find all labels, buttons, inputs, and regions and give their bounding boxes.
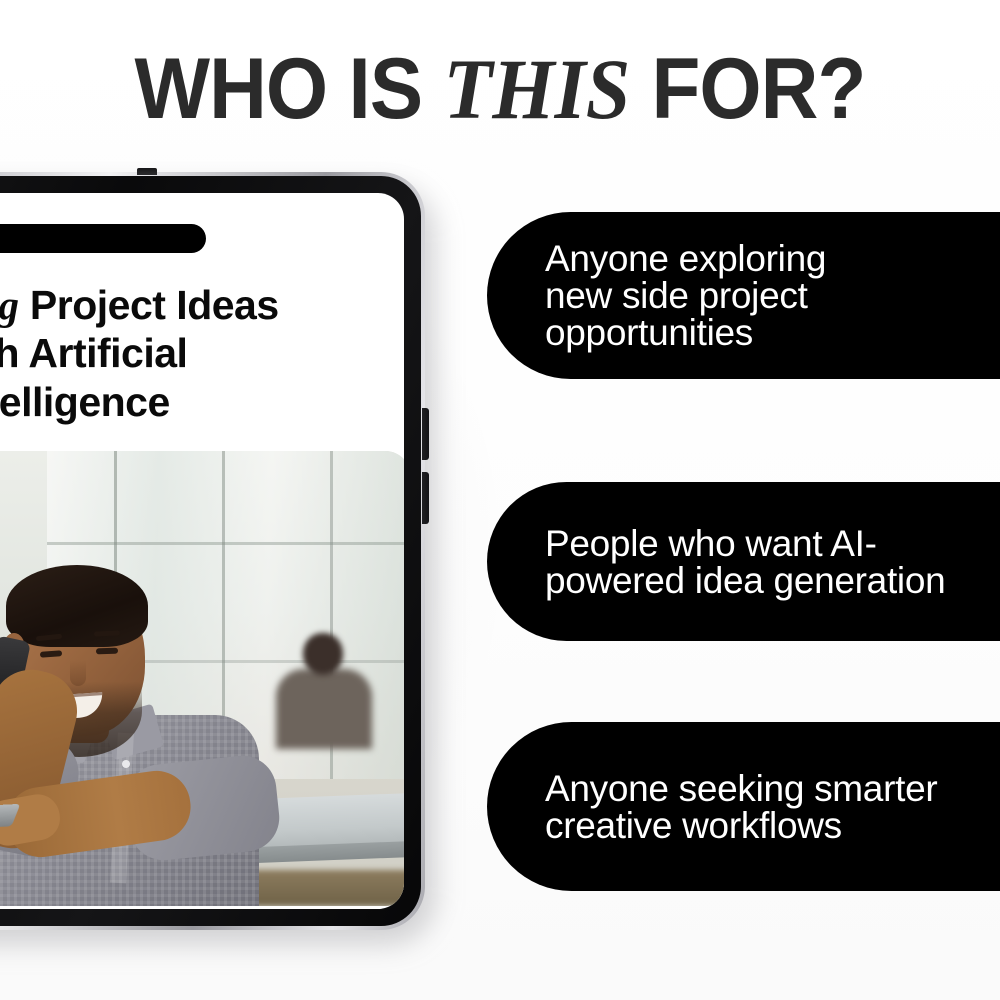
page-title-part2: FOR? [630, 41, 865, 137]
benefit-pill-label: Anyone seeking smarter creative workflow… [487, 770, 955, 844]
page-title-part1: WHO IS [135, 41, 444, 137]
tablet-screen: Unlocking Project Ideas With Artificial … [0, 193, 404, 909]
photo-bg-person-head [303, 633, 343, 675]
screen-headline: Unlocking Project Ideas With Artificial … [0, 281, 404, 426]
tablet-mockup: Unlocking Project Ideas With Artificial … [0, 172, 425, 930]
screen-headline-emphasis: Unlocking [0, 282, 19, 328]
volume-down-button[interactable] [422, 472, 429, 524]
screen-headline-line2: With Artificial [0, 329, 404, 377]
photo-man-eye [96, 648, 118, 655]
benefit-pill-label: People who want AI- powered idea generat… [487, 525, 963, 599]
tablet-bezel: Unlocking Project Ideas With Artificial … [0, 176, 421, 926]
benefit-pill: Anyone seeking smarter creative workflow… [487, 722, 1000, 891]
benefit-pill: Anyone exploring new side project opport… [487, 212, 1000, 379]
photo-man-eyebrow [94, 630, 120, 636]
screen-headline-line3: Intelligence [0, 378, 404, 426]
page-title-emphasis: THIS [444, 41, 631, 137]
volume-up-button[interactable] [422, 408, 429, 460]
screen-top-bar [0, 224, 206, 253]
benefit-pill: People who want AI- powered idea generat… [487, 482, 1000, 641]
screen-headline-rest: Project Ideas [19, 282, 279, 328]
photo-man-hair [6, 565, 148, 647]
photo-bg-person [276, 669, 372, 749]
screen-photo [0, 451, 404, 906]
photo-glass-rail [47, 542, 405, 545]
page-title: WHO IS THIS FOR? [35, 46, 965, 132]
screen-headline-line1: Unlocking Project Ideas [0, 281, 404, 329]
benefit-pill-label: Anyone exploring new side project opport… [487, 240, 844, 351]
power-button[interactable] [137, 168, 157, 175]
tablet-frame: Unlocking Project Ideas With Artificial … [0, 172, 425, 930]
photo-man-nose [70, 660, 86, 686]
